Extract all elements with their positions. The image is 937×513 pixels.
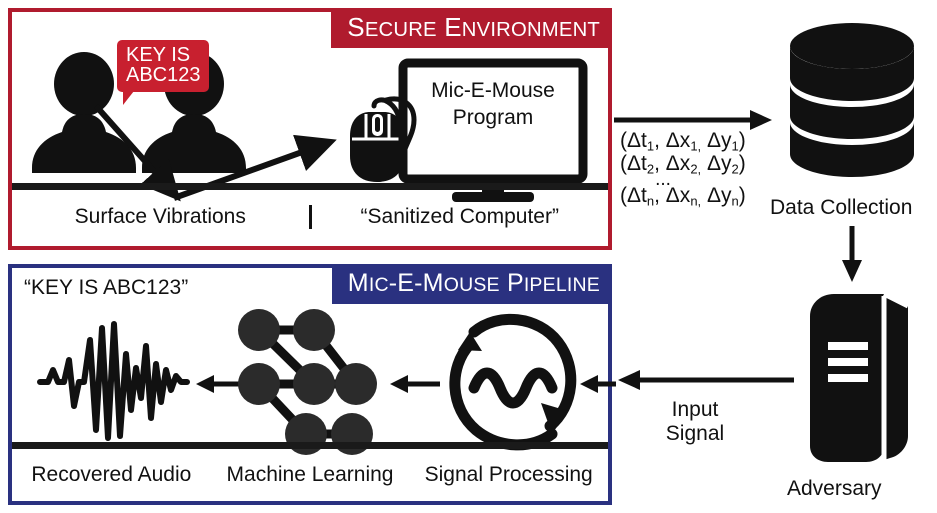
header-cap-m: M (348, 269, 369, 297)
bubble-line-2: ABC123 (126, 65, 201, 85)
header-cap-s: S (347, 12, 365, 42)
bubble-line-1: KEY IS (126, 45, 201, 65)
header-cap-p: P (507, 269, 524, 297)
neural-network-icon (234, 306, 380, 456)
signal-processing-cycle-icon (440, 310, 586, 456)
header-rest-ouse: OUSE (444, 274, 500, 296)
arrow-adversary-to-pipeline-icon (616, 366, 796, 394)
secure-environment-panel: SECURE ENVIRONMENT KEY IS ABC123 (8, 8, 612, 250)
input-signal-line-2: Signal (666, 422, 724, 445)
header-cap-m2: M (423, 269, 444, 297)
monitor-line-2: Program (416, 105, 570, 132)
label-signal-processing: Signal Processing (409, 463, 608, 487)
pipeline-label-strip: Recovered Audio Machine Learning Signal … (12, 449, 608, 501)
label-data-collection: Data Collection (770, 196, 912, 220)
label-input-signal: Input Signal (650, 398, 740, 445)
tuple-row-2: (Δt2, Δx2, Δy2) (620, 153, 746, 176)
database-cylinder-icon (786, 20, 918, 186)
arrow-input-to-sp-icon (578, 370, 618, 398)
tuple-row-1: (Δt1, Δx1, Δy1) (620, 130, 746, 153)
label-surface-vibrations: Surface Vibrations (12, 205, 312, 229)
label-recovered-audio: Recovered Audio (12, 463, 211, 487)
mic-e-mouse-pipeline-panel: MIC-E-MOUSE PIPELINE (8, 264, 612, 505)
speech-bubble-key: KEY IS ABC123 (117, 40, 209, 92)
label-sanitized-computer: “Sanitized Computer” (312, 205, 609, 229)
header-rest-nvironment: NVIRONMENT (462, 19, 600, 41)
monitor-line-1: Mic-E-Mouse (416, 78, 570, 105)
server-tower-icon (792, 286, 912, 468)
data-tuples-block: (Δt1, Δx1, Δy1) (Δt2, Δx2, Δy2) ... (Δtn… (620, 130, 746, 208)
diagram-canvas: SECURE ENVIRONMENT KEY IS ABC123 (0, 0, 937, 513)
header-rest-ipeline: IPELINE (524, 274, 600, 296)
secure-environment-header: SECURE ENVIRONMENT (331, 8, 612, 48)
arrow-sp-to-ml-icon (388, 370, 442, 398)
secure-panel-label-strip: Surface Vibrations “Sanitized Computer” (12, 190, 608, 244)
header-rest-ecure: ECURE (365, 19, 437, 41)
header-mid-e: -E- (389, 269, 423, 297)
pipeline-header: MIC-E-MOUSE PIPELINE (332, 264, 612, 304)
header-cap-e: E (444, 12, 462, 42)
label-machine-learning: Machine Learning (211, 463, 410, 487)
input-signal-line-1: Input (672, 398, 719, 421)
header-rest-ic: IC (369, 274, 389, 296)
monitor-screen-text: Mic-E-Mouse Program (416, 78, 570, 132)
bubble-tail (123, 91, 137, 105)
arrow-database-to-adversary-icon (838, 226, 866, 284)
desk-surface-line (12, 183, 608, 190)
recovered-text-quote: “KEY IS ABC123” (24, 276, 188, 300)
audio-waveform-icon (38, 306, 188, 456)
label-adversary: Adversary (787, 477, 882, 501)
tuple-row-n: (Δtn, Δxn, Δyn) (620, 185, 746, 208)
pipeline-divider-line (12, 442, 608, 449)
